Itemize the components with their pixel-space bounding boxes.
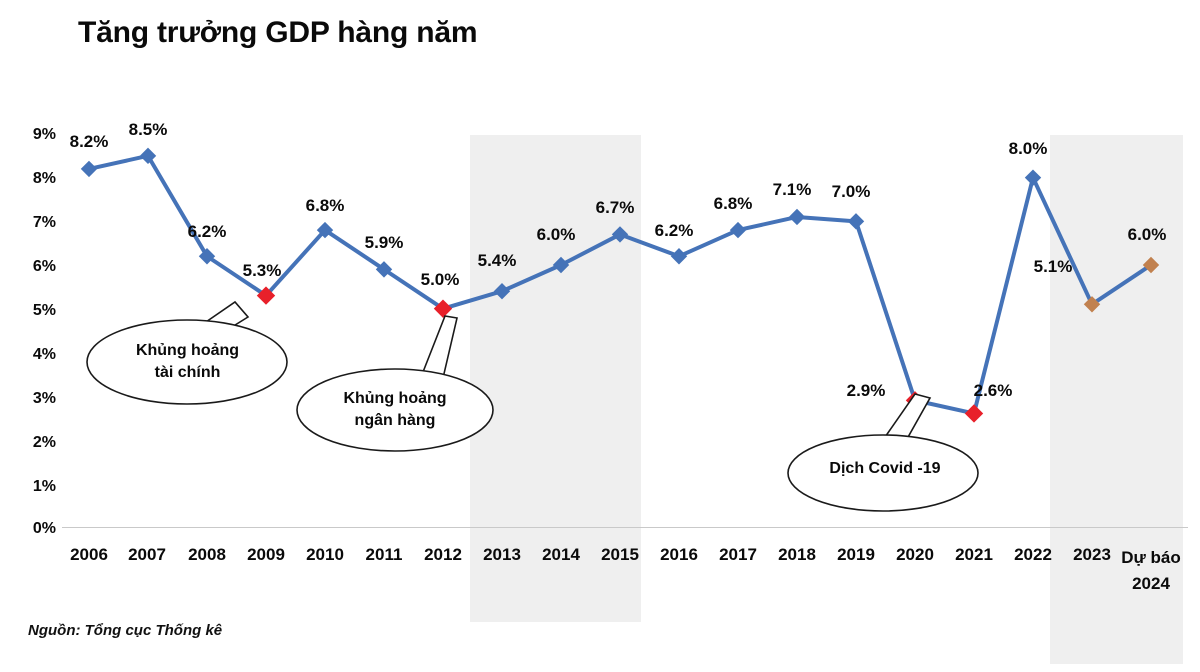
data-label-2019: 7.0% bbox=[811, 182, 891, 202]
data-label-2009: 5.3% bbox=[222, 261, 302, 281]
data-label-2014: 6.0% bbox=[516, 225, 596, 245]
data-marker-2006 bbox=[82, 161, 97, 176]
data-label-2022: 8.0% bbox=[988, 139, 1068, 159]
data-label-2011: 5.9% bbox=[344, 233, 424, 253]
annotation-covid-pandemic: Dịch Covid -19 bbox=[787, 434, 983, 512]
annotation-covid-pandemic-text: Dịch Covid -19 bbox=[787, 458, 983, 480]
chart-plot-area: 9% 8% 7% 6% 5% 4% 3% 2% 1% 0% 2006 2007 … bbox=[0, 0, 1200, 672]
data-label-2016: 6.2% bbox=[634, 221, 714, 241]
data-label-2007: 8.5% bbox=[108, 120, 188, 140]
data-marker-2014 bbox=[554, 258, 569, 273]
source-note: Nguồn: Tổng cục Thống kê bbox=[28, 622, 222, 639]
data-label-2015: 6.7% bbox=[575, 198, 655, 218]
data-marker-2018 bbox=[790, 209, 805, 224]
data-marker-2016 bbox=[672, 249, 687, 264]
data-marker-2013 bbox=[495, 284, 510, 299]
annotation-banking-crisis-text: Khủng hoảng ngân hàng bbox=[295, 388, 495, 432]
annotation-financial-crisis: Khủng hoảng tài chính bbox=[85, 318, 290, 404]
annotation-banking-crisis: Khủng hoảng ngân hàng bbox=[295, 368, 495, 452]
data-label-2023: 5.1% bbox=[1013, 257, 1093, 277]
data-marker-2015 bbox=[613, 227, 628, 242]
data-marker-2017 bbox=[731, 223, 746, 238]
data-label-2012: 5.0% bbox=[400, 270, 480, 290]
data-marker-2019 bbox=[849, 214, 864, 229]
x-axis-label-forecast-2024: Dự báo 2024 bbox=[1116, 545, 1186, 597]
data-label-2010: 6.8% bbox=[285, 196, 365, 216]
data-marker-2022 bbox=[1026, 170, 1041, 185]
data-label-2020: 2.9% bbox=[826, 381, 906, 401]
annotation-financial-crisis-text: Khủng hoảng tài chính bbox=[85, 340, 290, 384]
data-label-2008: 6.2% bbox=[167, 222, 247, 242]
data-label-2021: 2.6% bbox=[953, 381, 1033, 401]
data-label-forecast-2024: 6.0% bbox=[1107, 225, 1187, 245]
data-label-2013: 5.4% bbox=[457, 251, 537, 271]
